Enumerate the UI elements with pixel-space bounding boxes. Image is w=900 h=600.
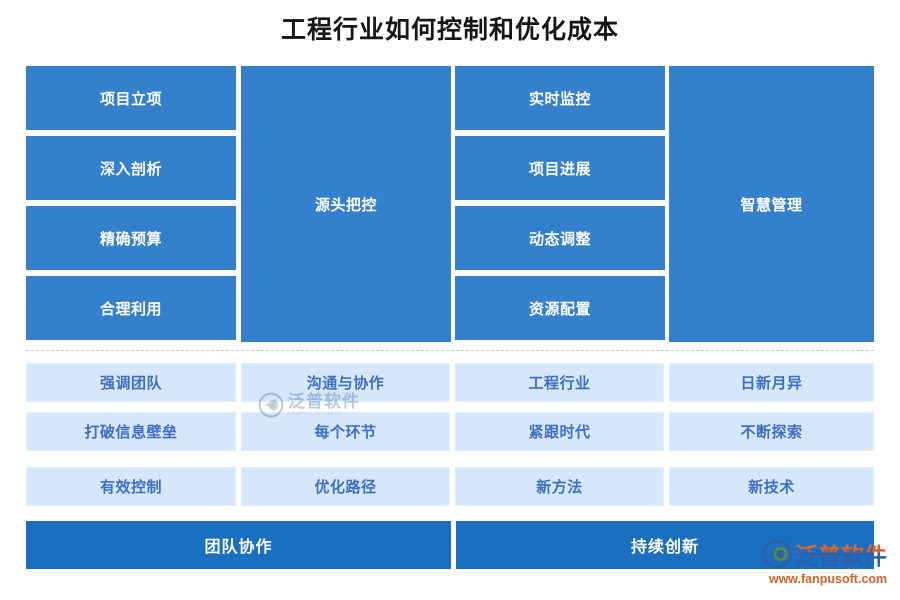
middle-cell[interactable]: 强调团队 [26, 363, 236, 402]
upper-cell[interactable]: 项目立项 [26, 66, 236, 130]
bottom-bars: 团队协作 持续创新 [26, 521, 874, 569]
section-divider [26, 350, 874, 351]
middle-cell[interactable]: 工程行业 [455, 363, 664, 402]
upper-cell-merged-smart-management[interactable]: 智慧管理 [669, 66, 874, 342]
middle-cell[interactable]: 不断探索 [669, 412, 874, 451]
middle-row: 有效控制 优化路径 新方法 新技术 [26, 467, 874, 506]
bottom-bar-teamwork[interactable]: 团队协作 [26, 521, 451, 569]
upper-column-3: 实时监控 项目进展 动态调整 资源配置 [455, 66, 665, 342]
logo-name-cn: 泛普软件 [795, 537, 887, 571]
middle-row: 打破信息壁垒 每个环节 紧跟时代 不断探索 [26, 412, 874, 451]
middle-cell[interactable]: 日新月异 [669, 363, 874, 402]
middle-cell[interactable]: 打破信息壁垒 [26, 412, 236, 451]
middle-cell[interactable]: 优化路径 [241, 467, 450, 506]
upper-cell[interactable]: 动态调整 [455, 206, 665, 270]
middle-row: 强调团队 沟通与协作 工程行业 日新月异 [26, 363, 874, 402]
upper-column-2: 源头把控 [241, 66, 451, 342]
upper-grid: 项目立项 深入剖析 精确预算 合理利用 源头把控 实时监控 项目进展 动态调整 … [26, 66, 874, 342]
upper-cell[interactable]: 实时监控 [455, 66, 665, 130]
middle-cell[interactable]: 每个环节 [241, 412, 450, 451]
middle-cell[interactable]: 新方法 [455, 467, 664, 506]
page-title: 工程行业如何控制和优化成本 [0, 13, 900, 47]
fanpu-logo-icon [762, 539, 792, 569]
upper-column-1: 项目立项 深入剖析 精确预算 合理利用 [26, 66, 236, 342]
middle-cell[interactable]: 紧跟时代 [455, 412, 664, 451]
middle-cell[interactable]: 沟通与协作 [241, 363, 450, 402]
upper-cell[interactable]: 精确预算 [26, 206, 236, 270]
upper-cell[interactable]: 合理利用 [26, 276, 236, 340]
upper-column-4: 智慧管理 [669, 66, 874, 342]
upper-cell[interactable]: 资源配置 [455, 276, 665, 340]
corner-logo: 泛普软件 www.fanpusoft.com [762, 537, 894, 592]
middle-cell[interactable]: 有效控制 [26, 467, 236, 506]
infographic-page: 工程行业如何控制和优化成本 项目立项 深入剖析 精确预算 合理利用 源头把控 实… [0, 0, 900, 600]
middle-grid: 强调团队 沟通与协作 工程行业 日新月异 打破信息壁垒 每个环节 紧跟时代 不断… [26, 363, 874, 508]
logo-url: www.fanpusoft.com [762, 572, 894, 586]
logo-row: 泛普软件 [762, 537, 894, 571]
upper-cell[interactable]: 项目进展 [455, 136, 665, 200]
upper-cell-merged-source-control[interactable]: 源头把控 [241, 66, 451, 342]
upper-cell[interactable]: 深入剖析 [26, 136, 236, 200]
middle-cell[interactable]: 新技术 [669, 467, 874, 506]
